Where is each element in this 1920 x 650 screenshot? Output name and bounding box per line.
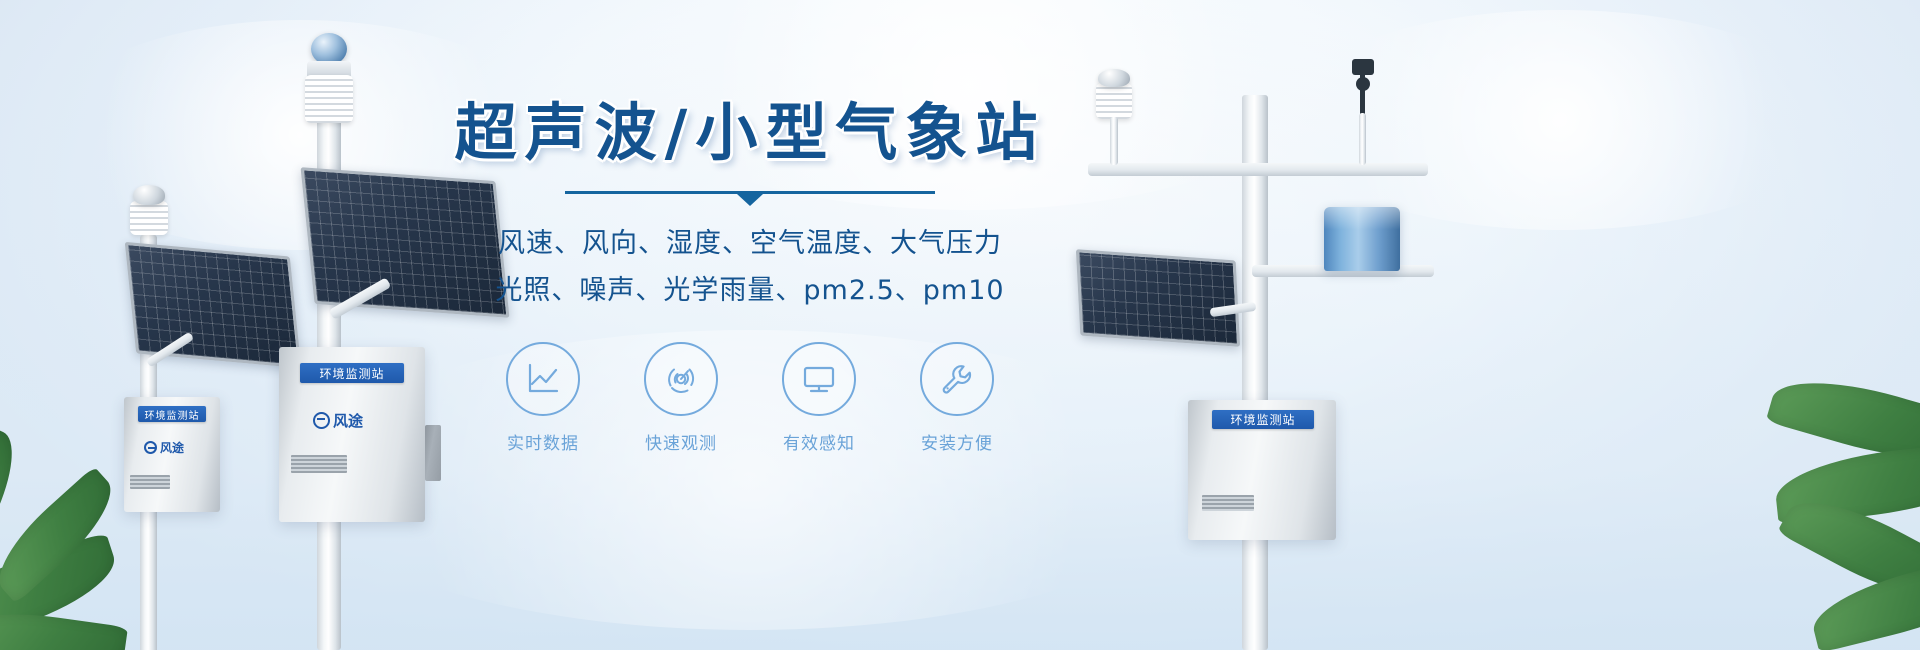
triangle-down-icon bbox=[737, 194, 763, 206]
radiation-shield-icon bbox=[305, 75, 353, 123]
cabinet-nameplate: 环境监测站 bbox=[138, 406, 206, 422]
feature-label: 安装方便 bbox=[905, 429, 1009, 454]
cabinet-nameplate-text: 环境监测站 bbox=[319, 365, 384, 382]
cabinet-vent bbox=[130, 475, 170, 489]
feature-icon-circle bbox=[920, 342, 994, 416]
cabinet-nameplate-text: 环境监测站 bbox=[145, 407, 200, 422]
radar-scan-icon bbox=[662, 360, 700, 398]
weather-station-right: 环境监测站 bbox=[1060, 55, 1460, 650]
feature-icon-circle bbox=[644, 342, 718, 416]
brand-logo-icon bbox=[144, 441, 157, 454]
feature-item-fast-observation[interactable]: 快速观测 bbox=[629, 342, 733, 454]
cabinet-vent bbox=[291, 455, 347, 473]
foliage-right bbox=[1640, 360, 1920, 650]
feature-label: 快速观测 bbox=[629, 429, 733, 454]
feature-icon-circle bbox=[782, 342, 856, 416]
cabinet-brand-text: 风途 bbox=[160, 439, 184, 456]
cabinet-brand: 风途 bbox=[313, 410, 363, 431]
radiation-shield-icon bbox=[1096, 83, 1132, 119]
cabinet-brand-text: 风途 bbox=[333, 410, 363, 431]
subtitle-line-1: 风速、风向、湿度、空气温度、大气压力 bbox=[440, 221, 1060, 267]
feature-item-realtime-data[interactable]: 实时数据 bbox=[491, 342, 595, 454]
cabinet-side-panel bbox=[425, 425, 441, 481]
wind-cup-icon bbox=[1356, 77, 1370, 91]
banner-content: 超声波/小型气象站 风速、风向、湿度、空气温度、大气压力 光照、噪声、光学雨量、… bbox=[440, 96, 1060, 454]
sensor-dome-icon bbox=[1098, 69, 1130, 87]
feature-list: 实时数据 快速观测 bbox=[440, 342, 1060, 454]
sensor-stem bbox=[1110, 117, 1118, 165]
sensor-crossarm bbox=[1088, 163, 1428, 176]
page-title: 超声波/小型气象站 bbox=[440, 96, 1060, 169]
brand-logo-icon bbox=[313, 412, 330, 429]
cabinet-nameplate: 环境监测站 bbox=[1212, 410, 1314, 429]
feature-icon-circle bbox=[506, 342, 580, 416]
feature-label: 实时数据 bbox=[491, 429, 595, 454]
sensor-dome-icon bbox=[133, 185, 165, 205]
sensor-stem bbox=[1359, 113, 1366, 165]
feature-item-easy-install[interactable]: 安装方便 bbox=[905, 342, 1009, 454]
mast-pole bbox=[1242, 95, 1268, 650]
feature-item-effective-sensing[interactable]: 有效感知 bbox=[767, 342, 871, 454]
title-divider bbox=[565, 191, 935, 205]
product-banner: 环境监测站 风途 环境监测站 风途 bbox=[0, 0, 1920, 650]
radiation-shield-icon bbox=[130, 201, 168, 235]
feature-label: 有效感知 bbox=[767, 429, 871, 454]
wind-cup-icon bbox=[1352, 59, 1374, 75]
wrench-icon bbox=[938, 360, 976, 398]
cabinet-nameplate-text: 环境监测站 bbox=[1230, 411, 1295, 428]
subtitle-line-2: 光照、噪声、光学雨量、pm2.5、pm10 bbox=[440, 268, 1060, 314]
cabinet-brand: 风途 bbox=[144, 439, 184, 456]
rain-gauge-icon bbox=[1324, 207, 1400, 271]
solar-panel-icon bbox=[1076, 249, 1240, 347]
cabinet-vent bbox=[1202, 495, 1254, 511]
cabinet-nameplate: 环境监测站 bbox=[300, 363, 404, 383]
monitor-screen-icon bbox=[800, 360, 838, 398]
line-chart-icon bbox=[524, 360, 562, 398]
